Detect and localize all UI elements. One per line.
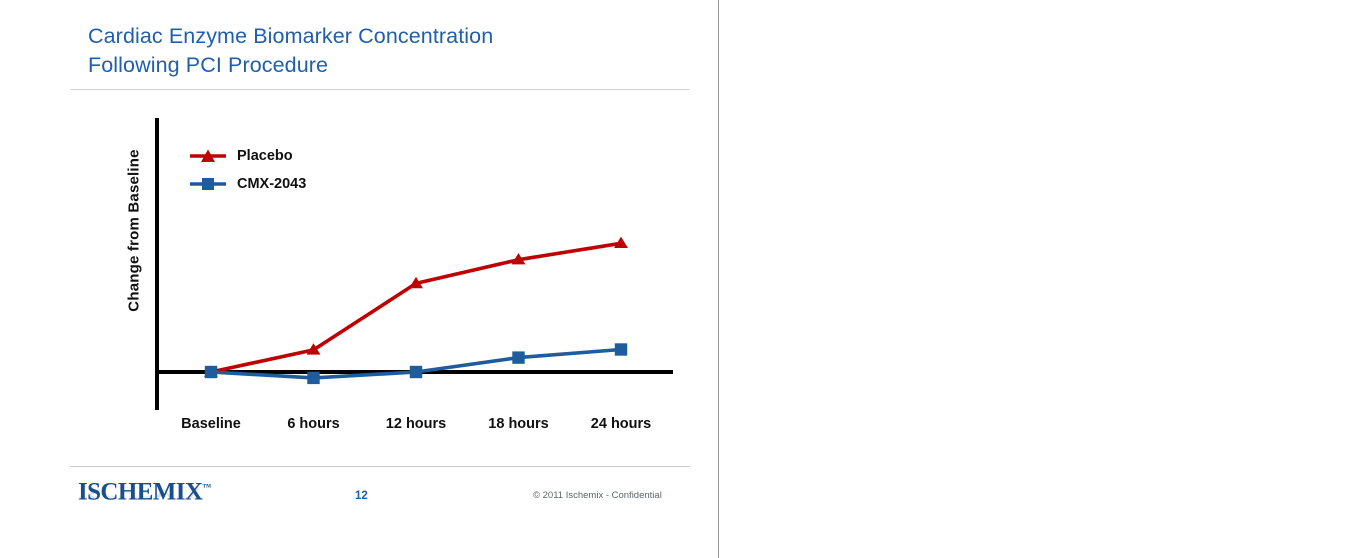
ischemix-logo: ISCHEMIX™ ISCHEMIX xyxy=(78,474,228,524)
chart-container: Change from Baseline Baseline 6 hours 12… xyxy=(70,100,700,460)
line-chart-plot xyxy=(70,100,700,460)
page-number: 12 xyxy=(355,490,368,502)
series-cmx-2043 xyxy=(205,343,627,384)
legend-marker-triangle-icon xyxy=(188,147,228,165)
legend-item-cmx-2043: CMX-2043 xyxy=(188,170,306,198)
legend-label: Placebo xyxy=(237,148,293,164)
x-tick-label: 18 hours xyxy=(488,416,548,432)
x-tick-label: 12 hours xyxy=(386,416,446,432)
data-point-square xyxy=(410,366,422,378)
data-point-square xyxy=(307,372,319,384)
x-tick-label: 6 hours xyxy=(287,416,339,432)
chart-legend: Placebo CMX-2043 xyxy=(188,142,306,198)
legend-item-placebo: Placebo xyxy=(188,142,306,170)
legend-marker-square-icon xyxy=(188,175,228,193)
data-point-square xyxy=(512,351,524,363)
x-tick-label: 24 hours xyxy=(591,416,651,432)
data-point-square xyxy=(205,366,217,378)
trademark-symbol: ™ xyxy=(202,482,210,492)
slide-canvas: Cardiac Enzyme Biomarker Concentration F… xyxy=(0,0,1360,558)
logo-reflection: ISCHEMIX xyxy=(78,483,202,500)
copyright-notice: © 2011 Ischemix - Confidential xyxy=(533,490,662,501)
legend-label: CMX-2043 xyxy=(237,176,306,192)
x-tick-label: Baseline xyxy=(181,416,241,432)
x-axis-tick-labels: Baseline 6 hours 12 hours 18 hours 24 ho… xyxy=(70,416,700,440)
title-divider xyxy=(70,89,690,90)
footer-divider xyxy=(70,466,690,467)
page-title: Cardiac Enzyme Biomarker Concentration F… xyxy=(88,22,688,80)
data-point-square xyxy=(615,343,627,355)
pane-divider xyxy=(718,0,719,558)
